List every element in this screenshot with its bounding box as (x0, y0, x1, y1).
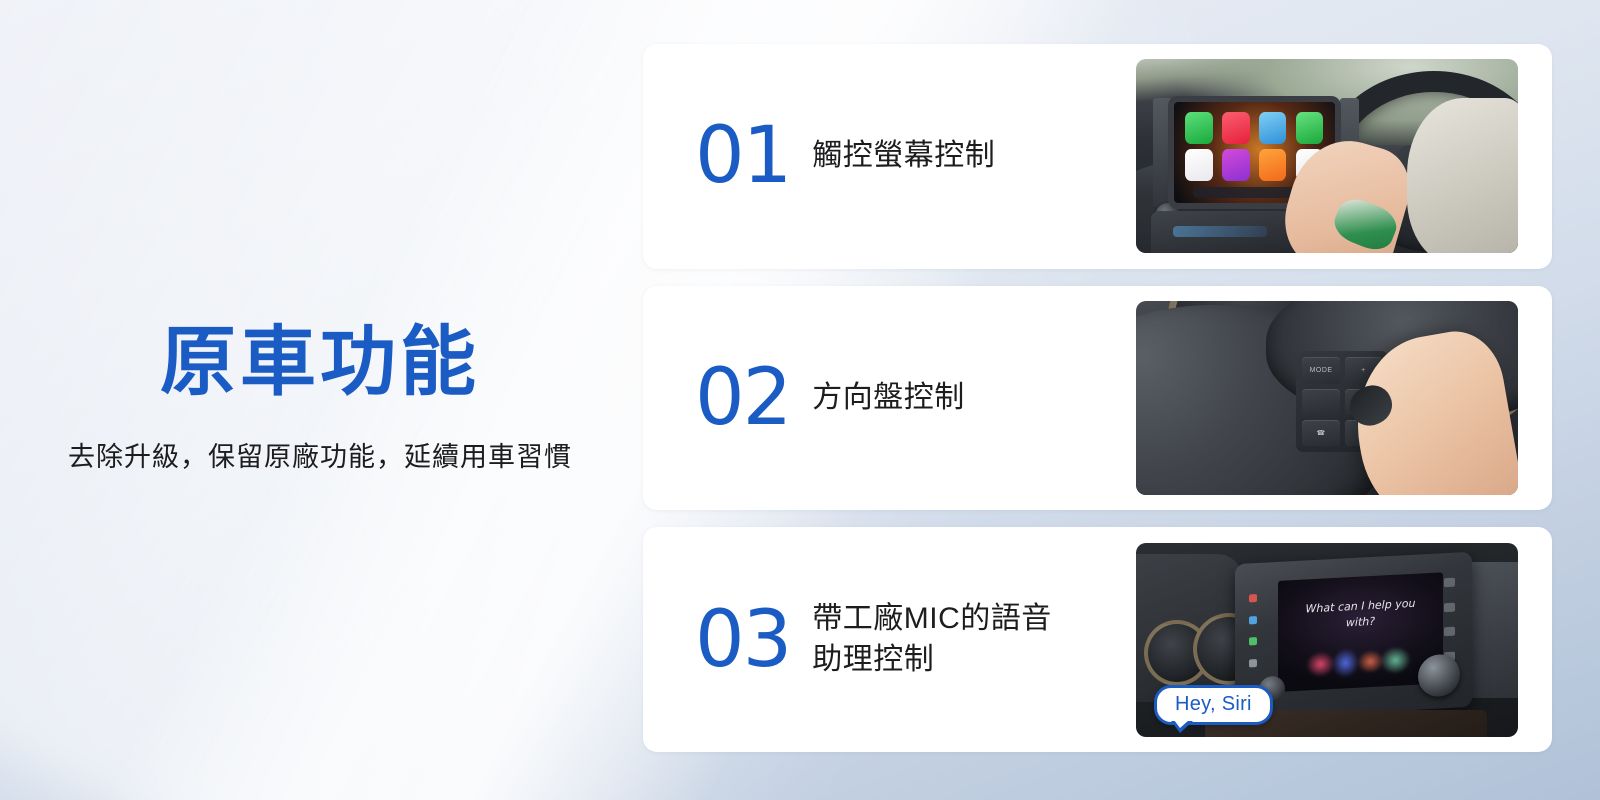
sweater-sleeve-shape (1407, 98, 1518, 253)
feature-card-03-body: 03 帶工廠MIC的語音 助理控制 (643, 599, 1136, 680)
feature-label-03-line2: 助理控制 (812, 640, 1052, 681)
feature-card-list: 01 觸控螢幕控制 (643, 44, 1552, 752)
hardkey-icon-2 (1445, 603, 1456, 613)
feature-label-02-line1: 方向盤控制 (812, 381, 965, 414)
phone-icon (1185, 112, 1212, 144)
podcasts-icon (1222, 149, 1249, 181)
books-icon (1259, 149, 1286, 181)
feature-label-01-line1: 觸控螢幕控制 (812, 139, 995, 172)
feature-card-01[interactable]: 01 觸控螢幕控制 (643, 44, 1552, 269)
feature-photo-steering-wheel: MODE + − ☎ (1136, 301, 1518, 495)
feature-card-02[interactable]: 02 方向盤控制 MODE + − ☎ (643, 286, 1552, 511)
maps-icon (1259, 112, 1286, 144)
feature-photo-touchscreen (1136, 59, 1518, 253)
mode-button-icon: MODE (1302, 357, 1339, 383)
now-playing-icon (1185, 149, 1212, 181)
feature-card-02-body: 02 方向盤控制 (643, 359, 1136, 437)
seek-rocker-icon (1302, 389, 1339, 415)
screen-app-icon-4 (1250, 659, 1258, 667)
heading-block: 原車功能 去除升級，保留原廠功能，延續用車習慣 (0, 320, 640, 474)
hardkey-icon-1 (1445, 578, 1456, 588)
hardkey-icon-3 (1445, 627, 1456, 637)
feature-photo-siri: What can I help you with? Hey, Siri (1136, 543, 1518, 737)
feature-label-03-line1: 帶工廠MIC的語音 (812, 599, 1052, 640)
messages-icon (1296, 112, 1323, 144)
feature-number-02: 02 (695, 359, 790, 437)
page-title: 原車功能 (0, 320, 640, 405)
screen-app-icon-1 (1250, 594, 1258, 602)
page-subtitle: 去除升級，保留原廠功能，延續用車習慣 (0, 435, 640, 474)
music-icon (1222, 112, 1249, 144)
page-background: 原車功能 去除升級，保留原廠功能，延續用車習慣 01 觸控螢幕控制 (0, 0, 1600, 800)
call-button-icon: ☎ (1302, 420, 1339, 446)
feature-number-01: 01 (695, 117, 790, 195)
screen-bezel-left (1153, 98, 1172, 207)
volume-knob-icon (1418, 653, 1460, 697)
center-console-shape (1151, 211, 1304, 254)
feature-card-03[interactable]: 03 帶工廠MIC的語音 助理控制 What can I help yo (643, 527, 1552, 752)
screen-app-icon-2 (1250, 616, 1258, 624)
siri-waveform-icon (1298, 645, 1424, 681)
feature-card-01-body: 01 觸控螢幕控制 (643, 117, 1136, 195)
feature-label-03: 帶工廠MIC的語音 助理控制 (812, 599, 1052, 680)
hey-siri-bubble: Hey, Siri (1154, 685, 1273, 725)
screen-app-icon-3 (1250, 638, 1258, 646)
feature-label-02: 方向盤控制 (812, 378, 965, 419)
feature-number-03: 03 (695, 601, 790, 679)
siri-prompt-text: What can I help you with? (1291, 595, 1430, 635)
feature-label-01: 觸控螢幕控制 (812, 136, 995, 177)
